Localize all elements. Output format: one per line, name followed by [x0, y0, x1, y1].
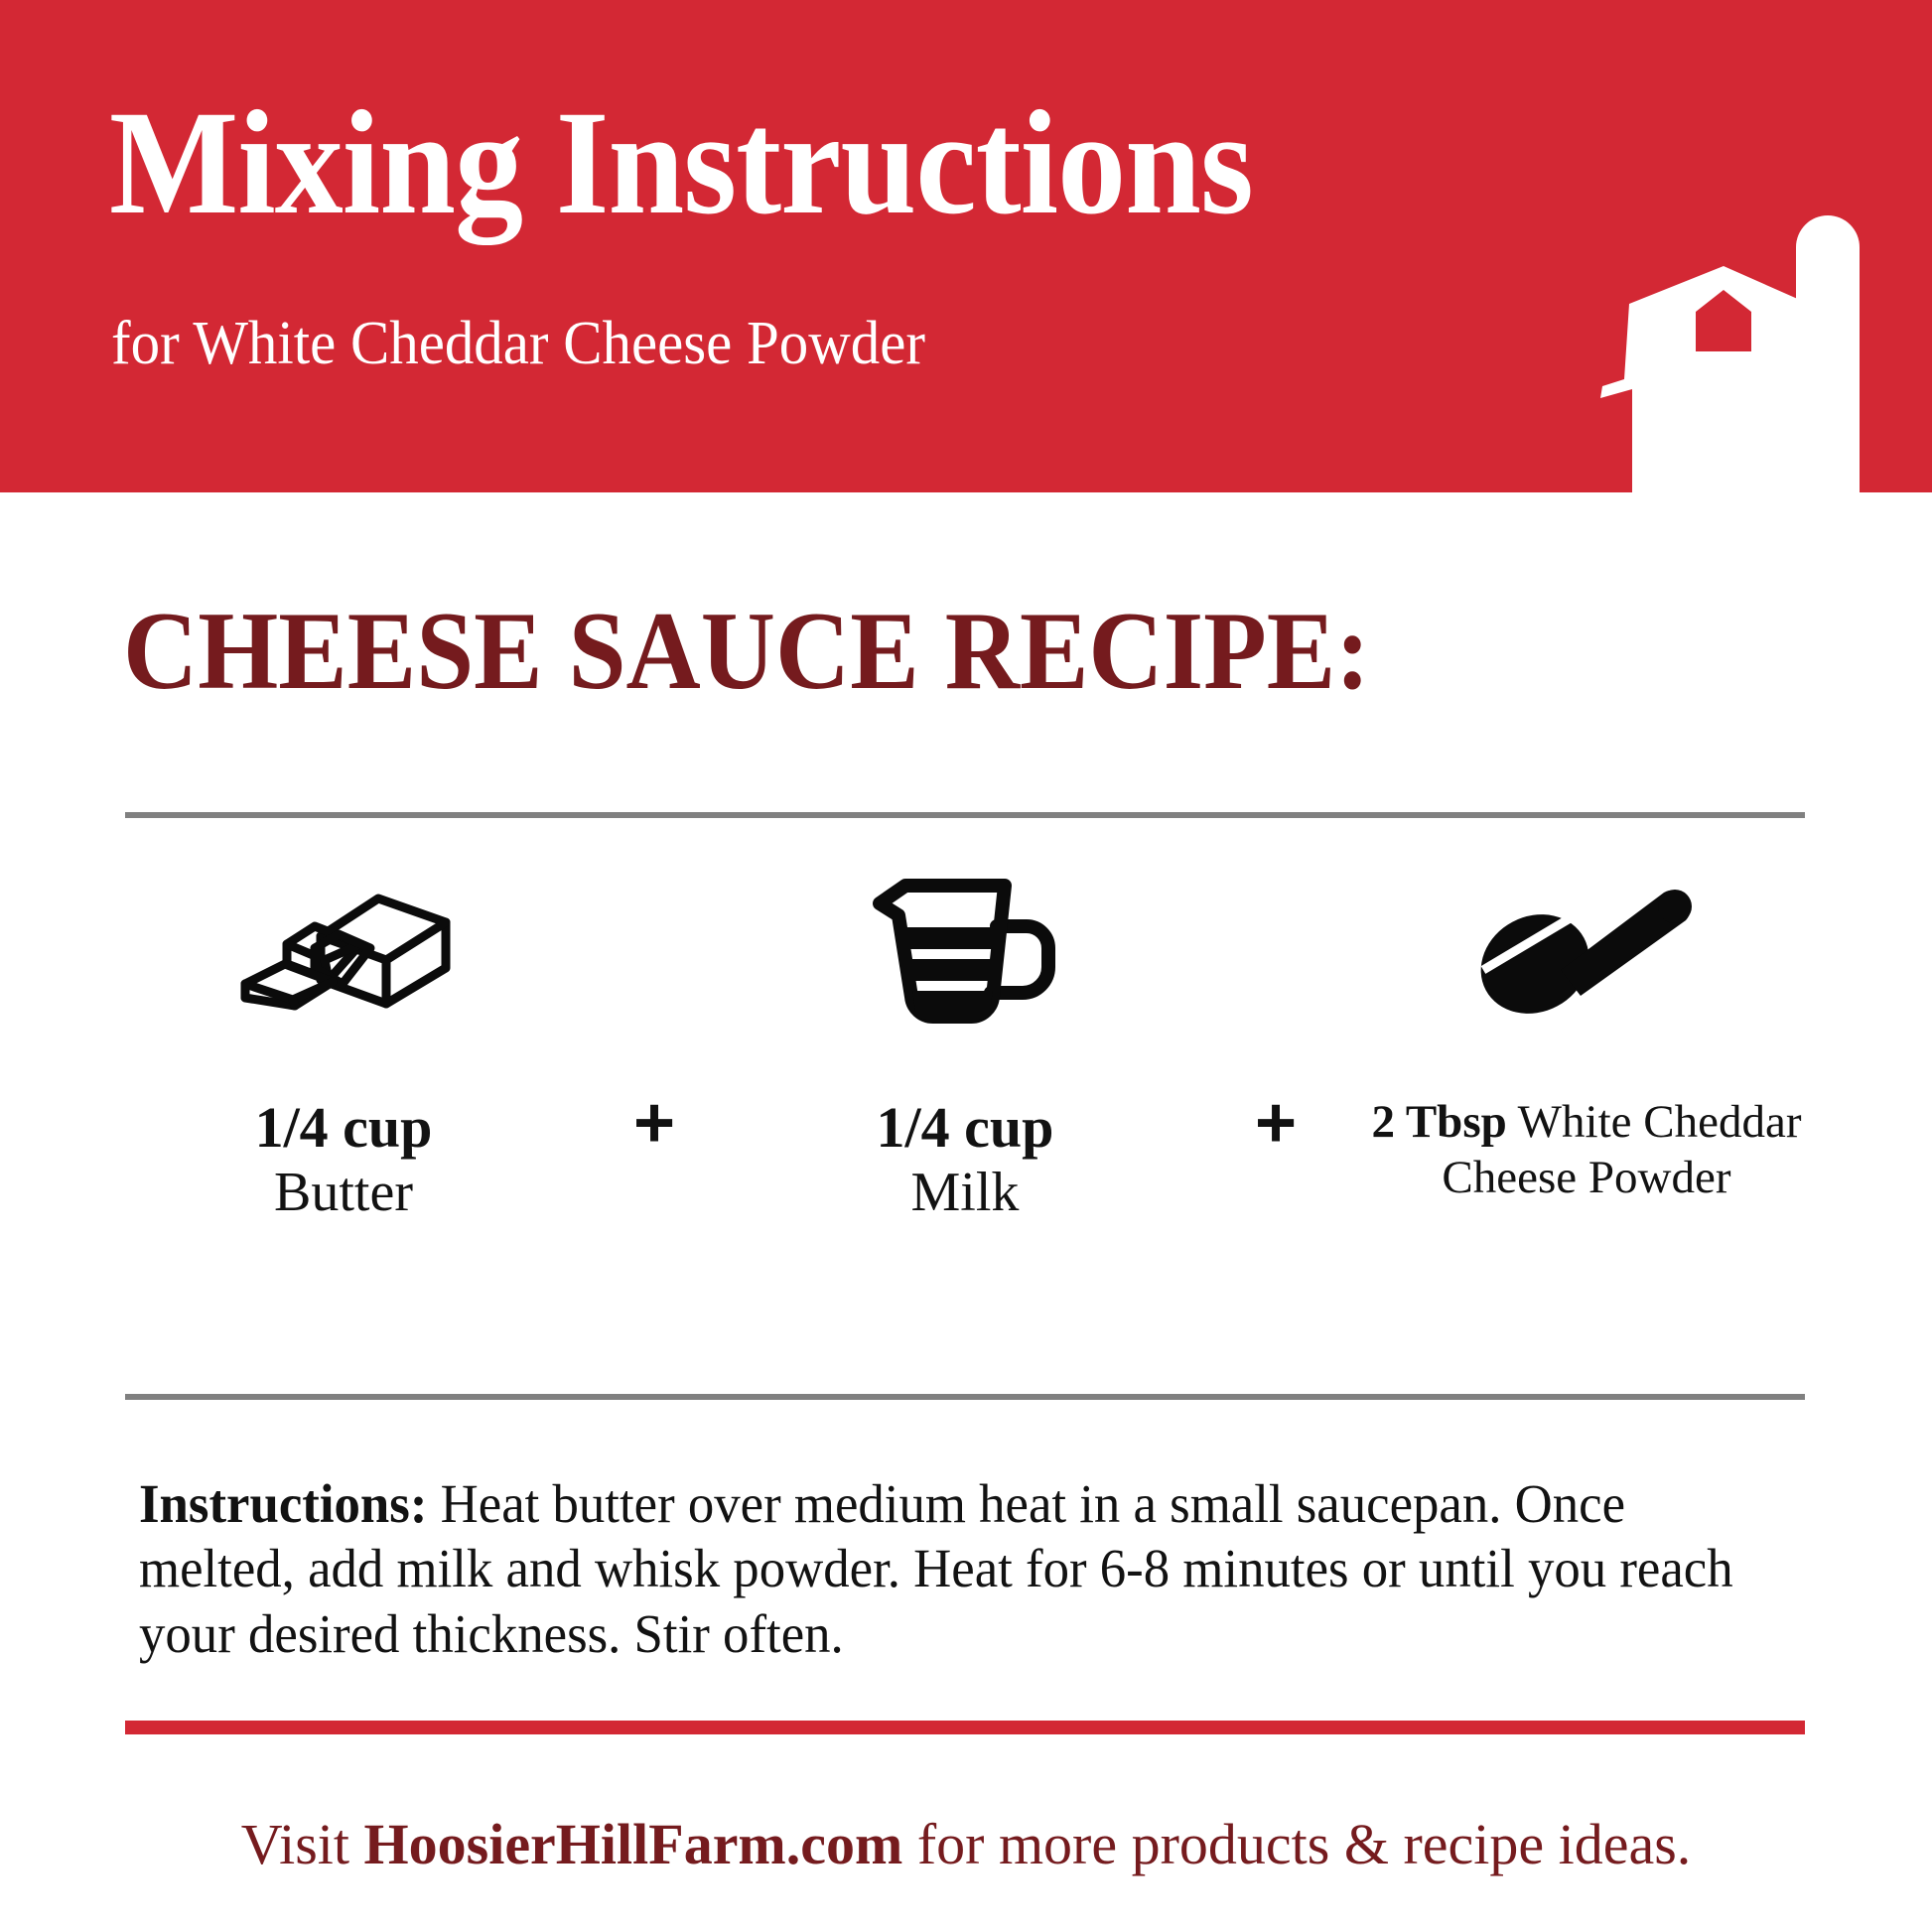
spoon-icon — [1469, 874, 1703, 1033]
divider-top — [125, 812, 1805, 818]
plus-operator-1: + — [633, 1087, 675, 1159]
header-banner: Mixing Instructions for White Cheddar Ch… — [0, 0, 1932, 492]
footer-suffix: for more products & recipe ideas. — [902, 1812, 1691, 1876]
infographic-page: Mixing Instructions for White Cheddar Ch… — [0, 0, 1932, 1932]
footer-rule — [125, 1721, 1805, 1734]
page-title: Mixing Instructions — [109, 87, 1253, 239]
plus-operator-2: + — [1255, 1087, 1297, 1159]
ingredient-powder-label: 2 Tbsp White Cheddar Cheese Powder — [1368, 1094, 1805, 1206]
footer-website-link[interactable]: HoosierHillFarm.com — [364, 1812, 903, 1876]
ingredient-milk-amount: 1/4 cup — [877, 1094, 1054, 1161]
ingredient-butter-amount: 1/4 cup — [255, 1094, 433, 1161]
footer-line: Visit HoosierHillFarm.com for more produ… — [0, 1813, 1932, 1876]
recipe-heading: CHEESE SAUCE RECIPE: — [123, 596, 1370, 707]
ingredient-butter: 1/4 cup Butter — [125, 874, 562, 1225]
ingredients-row: 1/4 cup Butter + — [125, 874, 1805, 1301]
ingredient-powder: 2 Tbsp White Cheddar Cheese Powder — [1368, 874, 1805, 1206]
ingredient-powder-amount: 2 Tbsp — [1371, 1096, 1506, 1148]
barn-silo-icon — [1585, 205, 1932, 492]
ingredient-butter-name: Butter — [255, 1161, 433, 1225]
page-subtitle: for White Cheddar Cheese Powder — [111, 310, 925, 377]
instructions-label: Instructions: — [139, 1473, 427, 1534]
butter-stick-icon — [229, 874, 458, 1033]
divider-bottom — [125, 1394, 1805, 1400]
ingredient-milk-name: Milk — [877, 1161, 1054, 1225]
instructions-block: Instructions: Heat butter over medium he… — [139, 1471, 1740, 1666]
measuring-cup-icon — [866, 874, 1064, 1033]
ingredient-butter-label: 1/4 cup Butter — [255, 1094, 433, 1225]
footer-prefix: Visit — [241, 1812, 364, 1876]
ingredient-milk-label: 1/4 cup Milk — [877, 1094, 1054, 1225]
ingredient-milk: 1/4 cup Milk — [747, 874, 1183, 1225]
